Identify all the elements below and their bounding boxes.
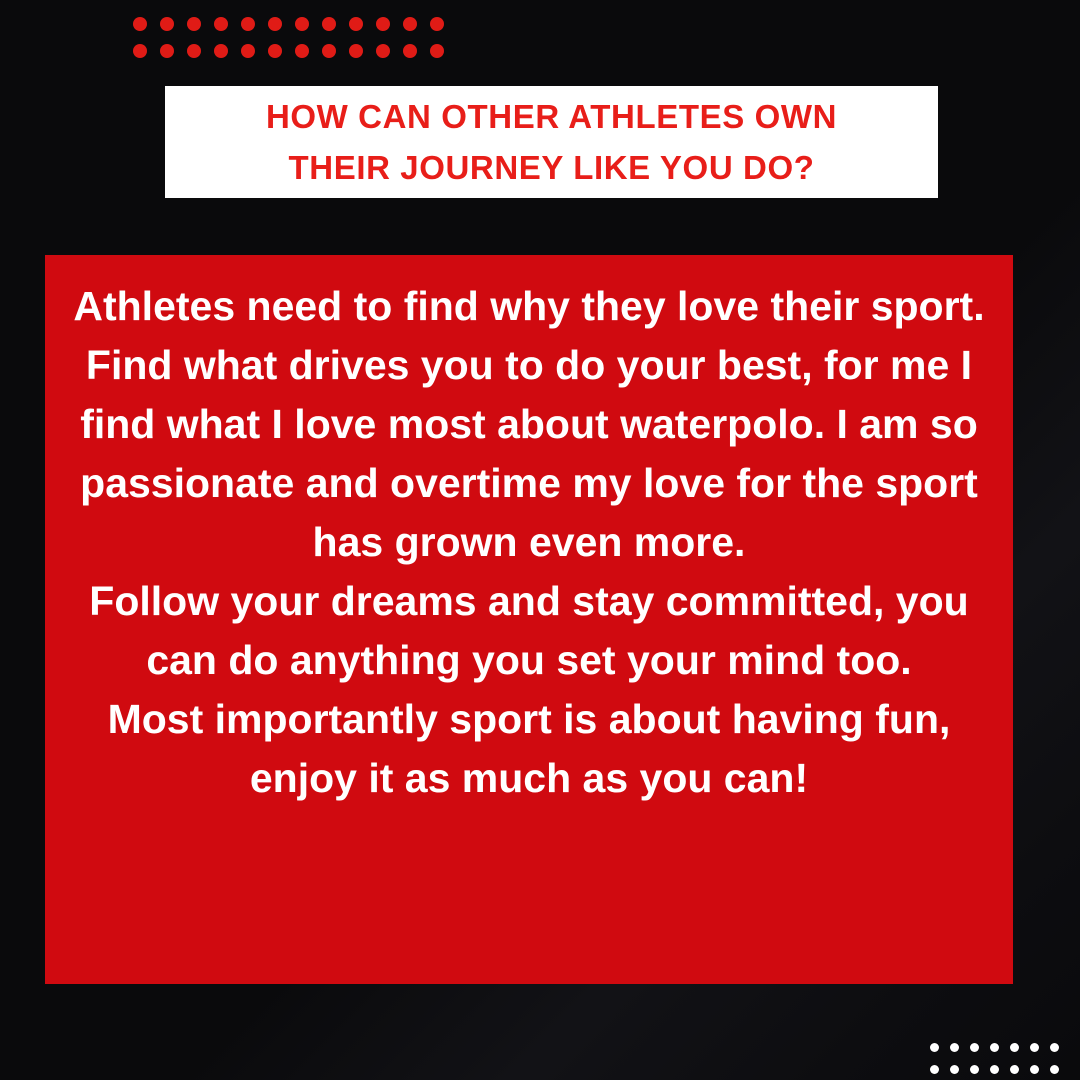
- dot-icon: [133, 44, 147, 58]
- dot-icon: [403, 44, 417, 58]
- red-dot-grid-decoration: [133, 10, 457, 64]
- dot-icon: [930, 1043, 939, 1052]
- dot-icon: [376, 44, 390, 58]
- dot-icon: [1030, 1043, 1039, 1052]
- dot-icon: [430, 17, 444, 31]
- dot-icon: [295, 44, 309, 58]
- dot-icon: [950, 1043, 959, 1052]
- answer-paragraph-2: Follow your dreams and stay committed, y…: [57, 572, 1001, 690]
- dot-icon: [268, 17, 282, 31]
- answer-panel: Athletes need to find why they love thei…: [45, 255, 1013, 984]
- dot-icon: [1010, 1043, 1019, 1052]
- answer-paragraph-3: Most importantly sport is about having f…: [57, 690, 1001, 808]
- dot-icon: [241, 44, 255, 58]
- dot-icon: [990, 1043, 999, 1052]
- answer-paragraph-1: Athletes need to find why they love thei…: [57, 277, 1001, 572]
- dot-icon: [214, 17, 228, 31]
- dot-icon: [187, 17, 201, 31]
- dot-icon: [970, 1043, 979, 1052]
- dot-icon: [187, 44, 201, 58]
- dot-icon: [160, 17, 174, 31]
- dot-icon: [268, 44, 282, 58]
- dot-icon: [1050, 1043, 1059, 1052]
- dot-icon: [970, 1065, 979, 1074]
- dot-icon: [376, 17, 390, 31]
- dot-icon: [322, 17, 336, 31]
- dot-icon: [930, 1065, 939, 1074]
- dot-icon: [133, 17, 147, 31]
- white-dot-grid-decoration: [930, 1036, 1070, 1080]
- dot-icon: [990, 1065, 999, 1074]
- question-banner: HOW CAN OTHER ATHLETES OWN THEIR JOURNEY…: [165, 86, 938, 198]
- dot-icon: [214, 44, 228, 58]
- dot-icon: [241, 17, 255, 31]
- dot-icon: [1050, 1065, 1059, 1074]
- dot-icon: [160, 44, 174, 58]
- dot-icon: [1030, 1065, 1039, 1074]
- dot-icon: [950, 1065, 959, 1074]
- dot-icon: [1010, 1065, 1019, 1074]
- dot-icon: [349, 17, 363, 31]
- dot-icon: [430, 44, 444, 58]
- dot-icon: [295, 17, 309, 31]
- dot-icon: [349, 44, 363, 58]
- dot-icon: [403, 17, 417, 31]
- question-text: HOW CAN OTHER ATHLETES OWN THEIR JOURNEY…: [266, 91, 837, 194]
- dot-icon: [322, 44, 336, 58]
